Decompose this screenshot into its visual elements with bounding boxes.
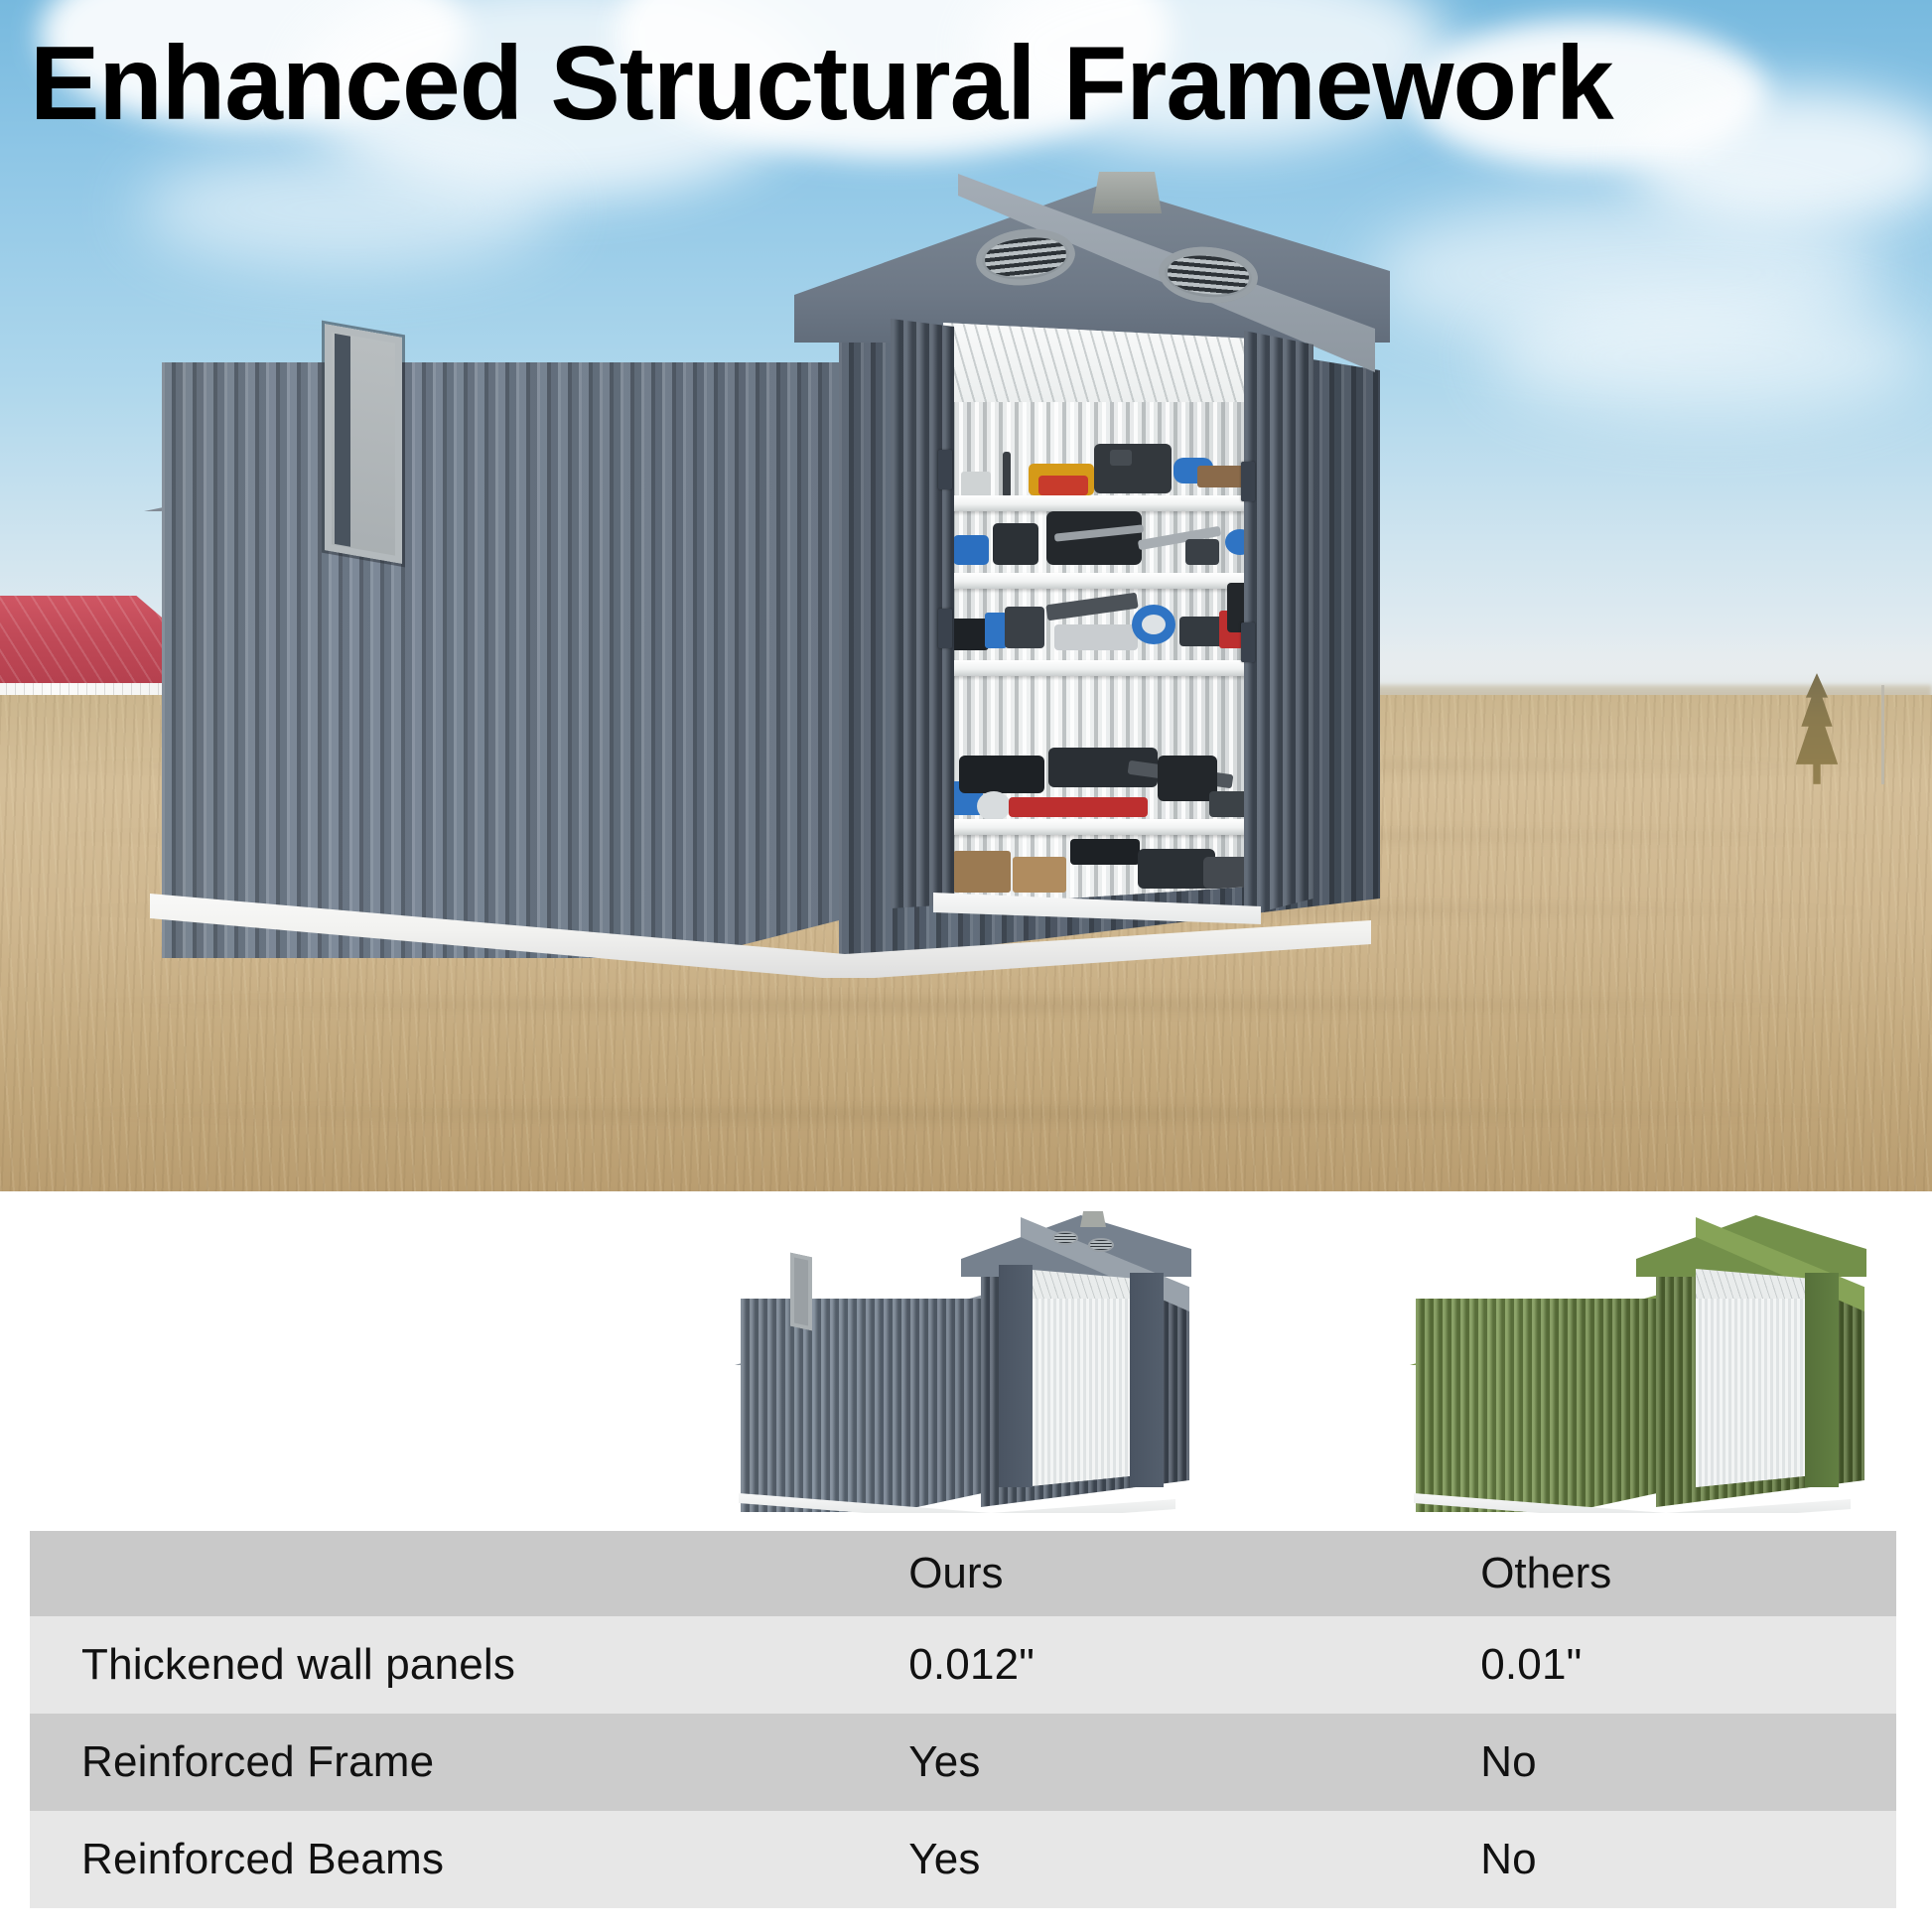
row-ours-value: 0.012" bbox=[908, 1643, 1035, 1687]
conifer-tree bbox=[1782, 667, 1852, 786]
field-furrow bbox=[0, 1102, 1932, 1126]
door-hinge bbox=[1241, 462, 1255, 501]
row-others-value: 0.01" bbox=[1480, 1643, 1582, 1687]
shelf bbox=[943, 660, 1251, 676]
row-feature-label: Reinforced Frame bbox=[81, 1740, 434, 1784]
hero-product-image bbox=[0, 0, 1932, 1191]
table-header-ours: Ours bbox=[908, 1552, 1003, 1595]
shelf-items bbox=[943, 738, 1251, 827]
comparison-table: Ours Others Thickened wall panels 0.012"… bbox=[30, 1531, 1896, 1908]
mini-doorway bbox=[1696, 1263, 1813, 1487]
mini-doorway bbox=[1021, 1263, 1138, 1487]
row-feature-label: Reinforced Beams bbox=[81, 1838, 444, 1881]
cloud-shape bbox=[1489, 298, 1926, 417]
door-hinge bbox=[938, 609, 952, 648]
mini-wall-left bbox=[1416, 1299, 1662, 1512]
table-header-others: Others bbox=[1480, 1552, 1611, 1595]
table-header-row: Ours Others bbox=[30, 1531, 1896, 1616]
others-shed-thumbnail bbox=[1410, 1211, 1857, 1509]
mini-window bbox=[790, 1253, 812, 1331]
door-hinge bbox=[1241, 622, 1255, 662]
shelf-items bbox=[943, 438, 1251, 499]
row-ours-value: Yes bbox=[908, 1740, 980, 1784]
mini-gable-vent-icon bbox=[1088, 1238, 1114, 1252]
comparison-thumbnails-row bbox=[0, 1191, 1932, 1509]
mini-gable-vent-icon bbox=[1052, 1231, 1078, 1245]
mini-ridge-cap bbox=[1080, 1211, 1106, 1227]
row-ours-value: Yes bbox=[908, 1838, 980, 1881]
corrugation-ribs bbox=[162, 362, 847, 958]
table-row: Reinforced Frame Yes No bbox=[30, 1714, 1896, 1811]
page-title: Enhanced Structural Framework bbox=[30, 30, 1907, 139]
mini-door-leaf bbox=[999, 1265, 1033, 1487]
row-others-value: No bbox=[1480, 1740, 1537, 1784]
mini-door-leaf bbox=[1805, 1273, 1839, 1487]
mini-door-leaf bbox=[1130, 1273, 1164, 1487]
table-row: Thickened wall panels 0.012" 0.01" bbox=[30, 1616, 1896, 1714]
shed-left-wall bbox=[162, 362, 847, 958]
shed-doorway-interior bbox=[943, 311, 1251, 906]
main-shed bbox=[144, 164, 1375, 958]
shed-window bbox=[325, 324, 402, 564]
ours-shed-thumbnail bbox=[735, 1211, 1181, 1509]
field-furrow bbox=[0, 993, 1932, 1017]
row-feature-label: Thickened wall panels bbox=[81, 1643, 515, 1687]
mini-wall-left bbox=[741, 1299, 987, 1512]
roof-ridge-cap bbox=[1092, 172, 1162, 213]
shelf-items bbox=[943, 505, 1251, 577]
mini-door-leaf bbox=[1674, 1265, 1708, 1487]
table-row: Reinforced Beams Yes No bbox=[30, 1811, 1896, 1908]
row-others-value: No bbox=[1480, 1838, 1537, 1881]
door-hinge bbox=[938, 450, 952, 489]
shelf-items bbox=[943, 583, 1251, 662]
floor-items bbox=[943, 827, 1251, 898]
field-pole bbox=[1881, 685, 1884, 784]
